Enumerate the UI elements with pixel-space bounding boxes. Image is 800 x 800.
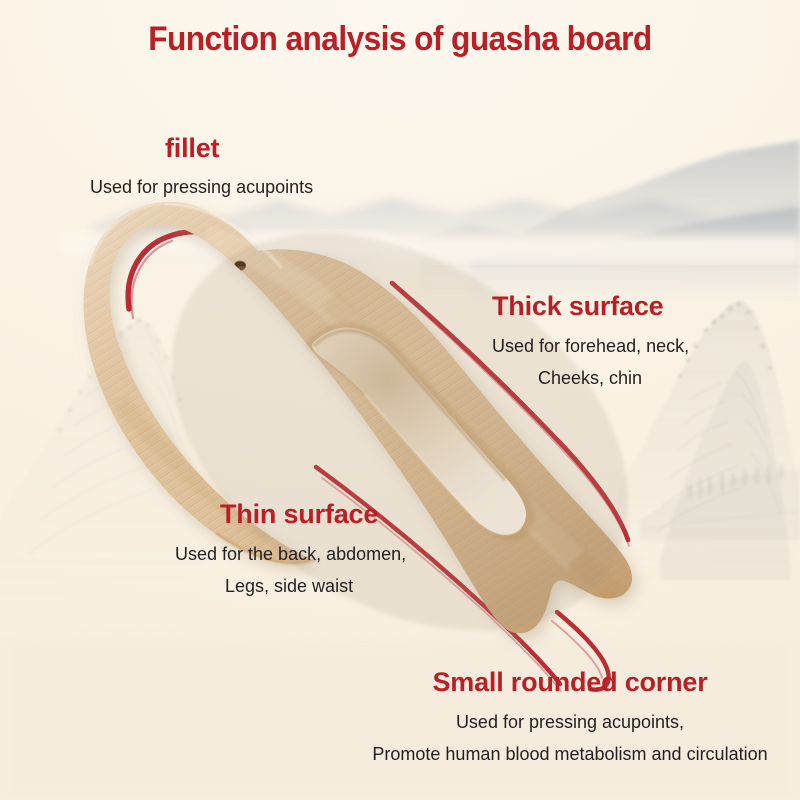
callout-small-rounded-corner-line-1: Used for pressing acupoints, xyxy=(340,713,800,733)
callout-thin-surface-line-2: Legs, side waist xyxy=(225,577,406,597)
hanging-hole xyxy=(234,261,246,271)
callout-thin-surface-line-1: Used for the back, abdomen, xyxy=(175,545,406,565)
right-shoreline xyxy=(640,463,800,540)
callout-thick-surface-line-1: Used for forehead, neck, xyxy=(492,337,689,357)
wood-knot xyxy=(613,538,620,542)
callout-small-rounded-corner: Small rounded corner Used for pressing a… xyxy=(340,668,800,765)
distant-ridge-band xyxy=(90,198,800,268)
page-title: Function analysis of guasha board xyxy=(28,20,772,59)
callout-small-rounded-corner-title: Small rounded corner xyxy=(340,668,800,698)
wood-knot xyxy=(225,314,230,317)
callout-fillet: fillet Used for pressing acupoints xyxy=(90,134,313,197)
callout-thick-surface-line-2: Cheeks, chin xyxy=(538,369,689,389)
contact-shadow xyxy=(98,151,703,712)
cloud-band xyxy=(60,232,800,262)
callout-fillet-title: fillet xyxy=(165,134,313,164)
callout-thin-surface: Thin surface Used for the back, abdomen,… xyxy=(175,500,406,597)
callout-thick-surface-title: Thick surface xyxy=(492,292,689,322)
callout-thin-surface-title: Thin surface xyxy=(220,500,406,530)
callout-thick-surface: Thick surface Used for forehead, neck, C… xyxy=(492,292,689,389)
infographic-canvas: Function analysis of guasha board fillet… xyxy=(0,0,800,800)
callout-small-rounded-corner-line-2: Promote human blood metabolism and circu… xyxy=(340,745,800,765)
mid-ridge-right xyxy=(420,140,800,300)
callout-fillet-line-1: Used for pressing acupoints xyxy=(90,178,313,198)
